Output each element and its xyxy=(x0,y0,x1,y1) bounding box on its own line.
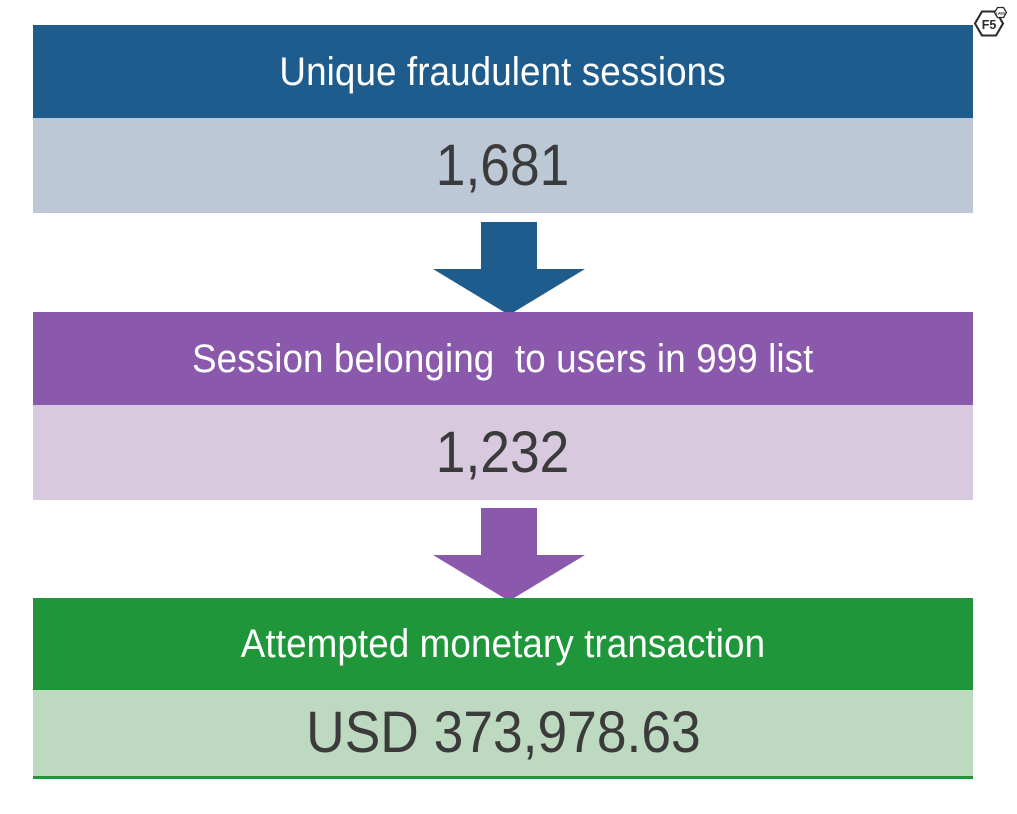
funnel-stage-label-3: Attempted monetary transaction xyxy=(241,624,765,664)
arrow-down-icon-purple xyxy=(433,508,585,601)
funnel-stage-header-1: Unique fraudulent sessions xyxy=(33,25,973,118)
funnel-diagram-canvas: Unique fraudulent sessions 1,681 Session… xyxy=(0,0,1017,814)
svg-text:F5: F5 xyxy=(982,18,997,32)
funnel-stage-value-box-1: 1,681 xyxy=(33,118,973,213)
funnel-stage-value-2: 1,232 xyxy=(436,424,570,482)
funnel-stage-sessions-in-999-list: Session belonging to users in 999 list 1… xyxy=(33,312,973,501)
funnel-stage-value-box-2: 1,232 xyxy=(33,405,973,500)
funnel-stage-label-2: Session belonging to users in 999 list xyxy=(192,339,813,379)
funnel-stage-attempted-monetary-transaction: Attempted monetary transaction USD 373,9… xyxy=(33,598,973,781)
funnel-stage-header-2: Session belonging to users in 999 list xyxy=(33,312,973,405)
f5-logo-icon: F5 LABS xyxy=(969,6,1009,42)
funnel-stage-header-3: Attempted monetary transaction xyxy=(33,598,973,690)
arrow-down-icon-blue xyxy=(433,222,585,315)
funnel-stage-label-1: Unique fraudulent sessions xyxy=(280,52,726,92)
funnel-stage-value-box-3: USD 373,978.63 xyxy=(33,690,973,779)
svg-text:LABS: LABS xyxy=(996,12,1006,16)
funnel-stage-value-3: USD 373,978.63 xyxy=(306,704,701,762)
funnel-stage-value-1: 1,681 xyxy=(436,137,570,195)
funnel-stage-unique-fraudulent-sessions: Unique fraudulent sessions 1,681 xyxy=(33,25,973,215)
